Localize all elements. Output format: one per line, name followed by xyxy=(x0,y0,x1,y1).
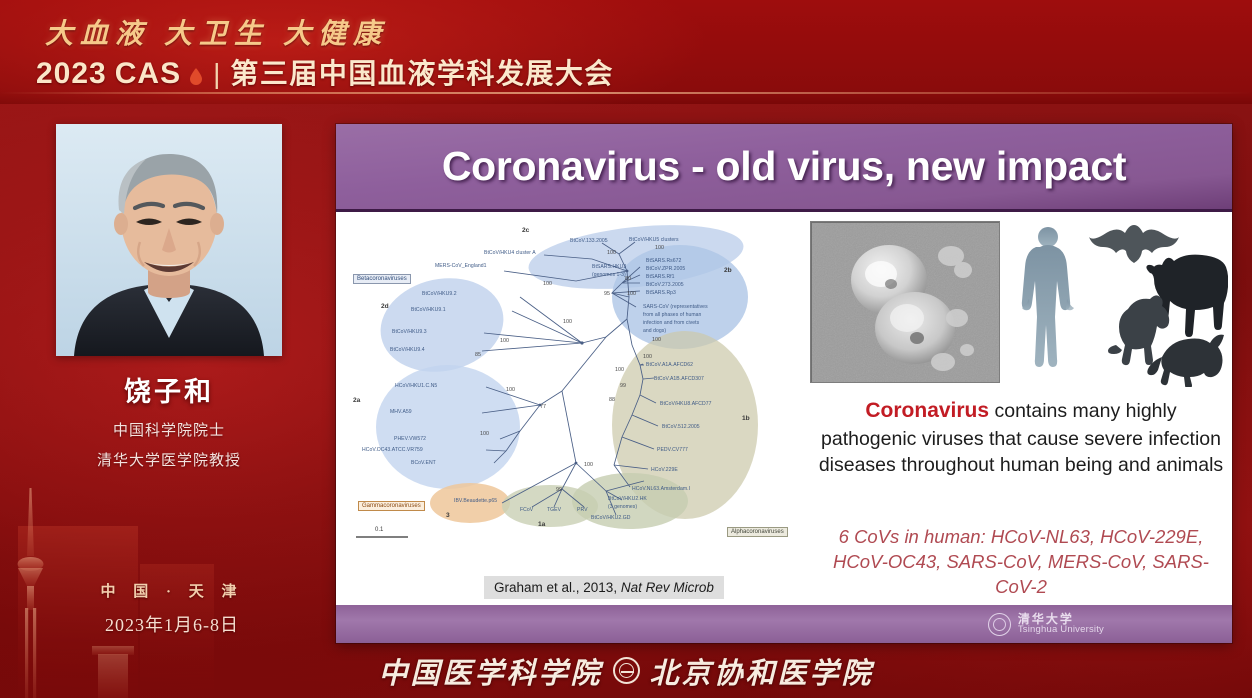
tree-taxon-label: PRV xyxy=(577,507,588,513)
organizer-banner: 中国医学科学院 北京协和医学院 xyxy=(0,643,1252,698)
bat-icon xyxy=(1089,225,1179,263)
tree-bootstrap-value: 100 xyxy=(480,431,489,437)
tree-clade-tag-gamma: Gammacoronaviruses xyxy=(358,501,425,511)
tree-clade-number-1b: 1b xyxy=(742,415,750,422)
tree-bootstrap-value: 77 xyxy=(540,404,546,410)
tree-taxon-label: IBV.Beaudette.p65 xyxy=(454,498,497,504)
tree-taxon-label: BtCoV/HKU2.GD xyxy=(591,515,630,521)
tree-taxon-label: FCoV xyxy=(520,507,533,513)
slide-right-column: Coronavirus contains many highly pathoge… xyxy=(814,215,1232,605)
tree-bootstrap-value: 100 xyxy=(506,387,515,393)
tree-clade-number-2d: 2d xyxy=(381,303,389,310)
tree-bootstrap-value: 100 xyxy=(500,338,509,344)
tree-bootstrap-value: 100 xyxy=(627,291,636,297)
tree-bootstrap-value: 95 xyxy=(604,291,610,297)
tree-taxon-label: BCoV.ENT xyxy=(411,460,436,466)
tree-bootstrap-value: 99 xyxy=(620,383,626,389)
tree-taxon-label: BtCoV.133.2005 xyxy=(570,238,608,244)
tree-bootstrap-value: 100 xyxy=(584,462,593,468)
tree-taxon-label: BtSARS.Rf1 xyxy=(646,274,675,280)
tree-taxon-label: BtCoV/HKU4 cluster A xyxy=(484,250,536,256)
tree-taxon-label: HCoV/HKU1.C.N5 xyxy=(395,383,437,389)
conference-header: 大血液 大卫生 大健康 2023 CAS | 第三届中国血液学科发展大会 xyxy=(0,0,1252,104)
tree-taxon-label: BtSARS.Rs672 xyxy=(646,258,681,264)
figure-citation: Graham et al., 2013, Nat Rev Microb xyxy=(484,576,724,599)
organizer-name-cams: 中国医学科学院 xyxy=(378,650,602,692)
tsinghua-name-en: Tsinghua University xyxy=(1018,625,1104,635)
conference-title-cn: 第三届中国血液学科发展大会 xyxy=(230,52,614,92)
tree-taxon-label: BtSARS.HKU3 xyxy=(592,264,626,270)
tree-taxon-label: infection and from civets xyxy=(643,320,699,326)
tree-taxon-label: SARS-CoV (representatives xyxy=(643,304,708,310)
tree-taxon-label: BtCoV.ZPR.2005 xyxy=(646,266,685,272)
tree-taxon-label: BtSARS.Rp3 xyxy=(646,290,676,296)
speaker-affiliation-0: 中国科学院院士 xyxy=(56,419,282,440)
tree-taxon-label: and dogs) xyxy=(643,328,666,334)
tree-clade-number-2b: 2b xyxy=(724,267,732,274)
tree-clade-number-2c: 2c xyxy=(522,227,529,234)
tree-taxon-label: BtCoV/HKU9.4 xyxy=(390,347,425,353)
tree-bootstrap-value: 100 xyxy=(655,245,664,251)
tree-taxon-label: HCoV.NL63.Amsterdam.I xyxy=(632,486,690,492)
coronavirus-electron-micrograph xyxy=(810,221,1000,383)
venue-block: 中 国 · 天 津 2023年1月6-8日 xyxy=(62,580,282,637)
tsinghua-seal-icon xyxy=(988,613,1011,636)
tree-clade-number-3: 3 xyxy=(446,512,450,519)
slide-footer-band: 清华大学 Tsinghua University xyxy=(336,605,1232,643)
tree-taxon-label: from all phases of human xyxy=(643,312,701,318)
phylogenetic-tree-diagram xyxy=(344,219,814,609)
tree-taxon-label: BtCoV/HKU9.3 xyxy=(392,329,427,335)
tree-bootstrap-value: 88 xyxy=(609,397,615,403)
human-silhouette-icon xyxy=(1022,227,1074,367)
tree-taxon-label: HCoV.OC43.ATCC.VR759 xyxy=(362,447,423,453)
tree-taxon-label: MHV.A59 xyxy=(390,409,412,415)
tree-taxon-label: BtCoV.A1A.AFCD62 xyxy=(646,362,693,368)
tree-taxon-label: BtCoV/HKU2.HK xyxy=(608,496,647,502)
tree-scale-label: 0.1 xyxy=(375,527,383,533)
tree-taxon-label: HCoV.229E xyxy=(651,467,678,473)
header-divider xyxy=(0,92,1252,94)
tsinghua-logo: 清华大学 Tsinghua University xyxy=(988,613,1104,636)
tree-clade-number-2a: 2a xyxy=(353,397,360,404)
venue-date: 2023年1月6-8日 xyxy=(62,611,282,637)
tree-clade-tag-alpha: Alphacoronaviruses xyxy=(727,527,788,537)
tree-taxon-label: (genomes 1-3) xyxy=(592,272,626,278)
coronavirus-keyword: Coronavirus xyxy=(865,399,989,422)
tree-taxon-label: TGEV xyxy=(547,507,561,513)
tree-taxon-label: BtCoV/HKU9.1 xyxy=(411,307,446,313)
tree-clade-tag-beta: Betacoronaviruses xyxy=(353,274,411,284)
presentation-slide[interactable]: Coronavirus - old virus, new impact xyxy=(336,124,1232,643)
tree-bootstrap-value: 100 xyxy=(615,367,624,373)
tree-taxon-label: PEDV.CV777 xyxy=(657,447,688,453)
phylogenetic-tree-figure: BetacoronavirusesGammacoronavirusesAlpha… xyxy=(344,219,814,609)
organizer-name-pumc: 北京协和医学院 xyxy=(650,650,874,692)
venue-city: 中 国 · 天 津 xyxy=(62,580,282,601)
tree-bootstrap-value: 100 xyxy=(643,354,652,360)
slide-title: Coronavirus - old virus, new impact xyxy=(442,143,1126,190)
conference-title-row: 2023 CAS | 第三届中国血液学科发展大会 xyxy=(36,52,614,92)
slide-title-band: Coronavirus - old virus, new impact xyxy=(336,124,1232,212)
conference-brand: CAS xyxy=(115,57,181,91)
tree-clade-number-1a: 1a xyxy=(538,521,545,528)
tree-bootstrap-value: 100 xyxy=(563,319,572,325)
tree-taxon-label: PHEV.VW572 xyxy=(394,436,426,442)
tree-bootstrap-value: 99 xyxy=(556,487,562,493)
host-animal-silhouettes xyxy=(1010,217,1228,387)
speaker-affiliation-1: 清华大学医学院教授 xyxy=(56,449,282,470)
tree-bootstrap-value: 100 xyxy=(543,281,552,287)
slide-body: BetacoronavirusesGammacoronavirusesAlpha… xyxy=(336,215,1232,605)
speaker-card: 饶子和 中国科学院院士 清华大学医学院教授 xyxy=(56,124,282,470)
organizer-seal-icon xyxy=(613,657,640,684)
conference-year: 2023 xyxy=(36,57,107,91)
tree-bootstrap-value: 100 xyxy=(607,250,616,256)
tree-taxon-label: BtCoV/HKU5 clusters xyxy=(629,237,679,243)
tree-taxon-label: (3 genomes) xyxy=(608,504,637,510)
civet-icon xyxy=(1147,335,1224,387)
tree-taxon-label: BtCoV.273.2005 xyxy=(646,282,684,288)
tree-bootstrap-value: 80 xyxy=(625,276,631,282)
blood-drop-icon xyxy=(189,68,203,85)
conference-slogan: 大血液 大卫生 大健康 xyxy=(45,12,388,52)
dog-icon xyxy=(1108,295,1169,365)
tree-bootstrap-value: 100 xyxy=(652,337,661,343)
coronavirus-description: Coronavirus contains many highly pathoge… xyxy=(816,397,1226,479)
tree-taxon-label: BtCoV.A1B.AFCD307 xyxy=(654,376,704,382)
tree-bootstrap-value: 85 xyxy=(475,352,481,358)
title-separator: | xyxy=(211,58,222,90)
speaker-name: 饶子和 xyxy=(56,370,282,409)
speaker-portrait xyxy=(56,124,282,356)
tree-taxon-label: MERS-CoV_England1 xyxy=(435,263,487,269)
tree-taxon-label: BtCoV.512.2005 xyxy=(662,424,700,430)
tree-taxon-label: BtCoV/HKU9.2 xyxy=(422,291,457,297)
human-covs-note: 6 CoVs in human: HCoV-NL63, HCoV-229E, H… xyxy=(816,525,1226,599)
tree-taxon-label: BtCoV/HKU8.AFCD77 xyxy=(660,401,712,407)
